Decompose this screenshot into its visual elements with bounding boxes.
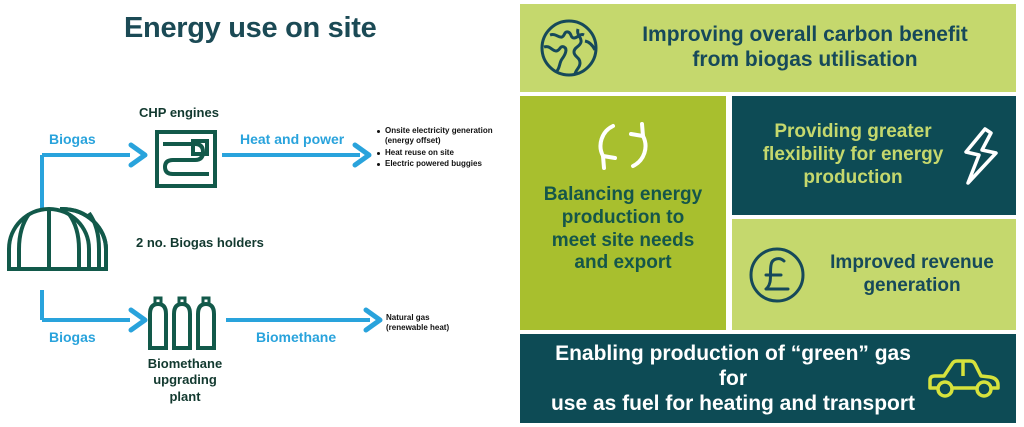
card-line-2: use as fuel for heating and transport — [551, 392, 915, 415]
card-line-3: production — [803, 167, 902, 188]
biomethane-plant-label: Biomethane upgrading plant — [140, 356, 230, 405]
card-line-1: Improved revenue — [830, 252, 994, 273]
card-flexibility[interactable]: Providing greater flexibility for energy… — [732, 96, 1016, 215]
card-revenue-text: Improved revenue generation — [808, 252, 1016, 298]
chp-engines-label: CHP engines — [139, 105, 219, 120]
chp-engine-icon — [155, 130, 217, 188]
energy-use-diagram-panel: Energy use on site — [0, 0, 512, 427]
card-line-2: from biogas utilisation — [692, 48, 917, 71]
heat-and-power-label: Heat and power — [240, 131, 344, 147]
refresh-cycle-icon — [589, 112, 657, 180]
card-carbon-benefit-text: Improving overall carbon benefit from bi… — [594, 23, 1016, 73]
card-balancing[interactable]: Balancing energy production to meet site… — [520, 96, 726, 330]
card-line-2: production to — [562, 207, 684, 228]
biomethane-label: Biomethane — [256, 329, 336, 345]
infographic-canvas: Energy use on site — [0, 0, 1024, 427]
card-line-1: Balancing energy — [544, 184, 702, 205]
natural-gas-line-2: (renewable heat) — [386, 323, 449, 332]
biogas-holders-label: 2 no. Biogas holders — [136, 235, 264, 250]
card-carbon-benefit[interactable]: Improving overall carbon benefit from bi… — [520, 4, 1016, 92]
card-green-gas[interactable]: Enabling production of “green” gas for u… — [520, 334, 1016, 423]
list-item: Heat reuse on site — [376, 148, 512, 158]
list-item: Onsite electricity generation (energy of… — [376, 126, 512, 147]
card-flexibility-text: Providing greater flexibility for energy… — [748, 121, 958, 189]
biogas-input-plant-label: Biogas — [49, 329, 96, 345]
card-line-1: Improving overall carbon benefit — [642, 23, 968, 46]
list-item: Electric powered buggies — [376, 159, 512, 169]
benefits-panel: Improving overall carbon benefit from bi… — [512, 0, 1024, 427]
card-line-3: meet site needs — [552, 230, 695, 251]
pound-coin-icon — [746, 244, 808, 306]
natural-gas-line-1: Natural gas — [386, 313, 430, 322]
car-icon — [926, 356, 1002, 402]
gas-cylinders-icon — [148, 296, 222, 350]
card-line-4: and export — [574, 252, 671, 273]
card-line-2: generation — [863, 275, 960, 296]
card-line-1: Providing greater — [774, 121, 931, 142]
globe-icon — [538, 17, 600, 79]
lightning-bolt-icon — [958, 125, 1004, 187]
chp-outputs-list: Onsite electricity generation (energy of… — [376, 126, 512, 171]
natural-gas-label: Natural gas (renewable heat) — [386, 313, 449, 333]
card-green-gas-text: Enabling production of “green” gas for u… — [540, 341, 926, 417]
card-revenue[interactable]: Improved revenue generation — [732, 219, 1016, 330]
biogas-holders-icon — [6, 203, 118, 275]
biogas-input-chp-label: Biogas — [49, 131, 96, 147]
card-line-1: Enabling production of “green” gas for — [555, 342, 911, 390]
card-line-2: flexibility for energy — [763, 144, 944, 165]
card-balancing-text: Balancing energy production to meet site… — [544, 184, 702, 275]
